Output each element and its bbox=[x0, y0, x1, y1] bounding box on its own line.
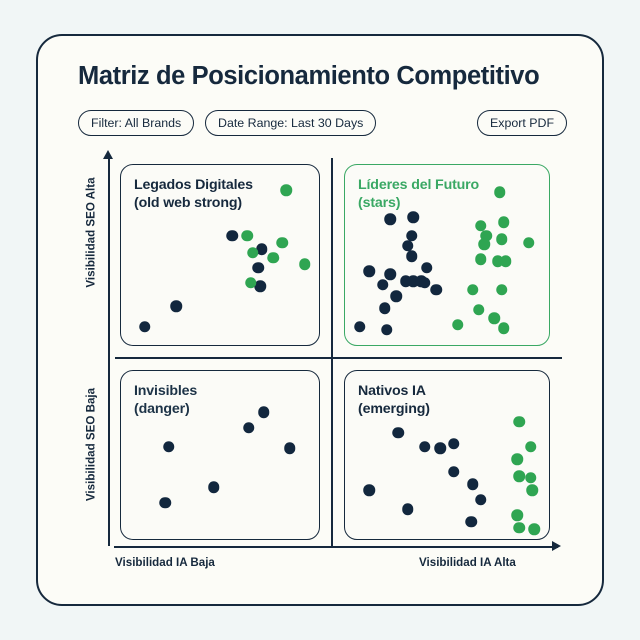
quadrant-legados-digitales[interactable]: Legados Digitales(old web strong) bbox=[120, 164, 320, 346]
data-point bbox=[159, 497, 171, 509]
data-point bbox=[498, 322, 510, 334]
data-point bbox=[529, 524, 541, 536]
data-point bbox=[431, 284, 443, 296]
data-point bbox=[527, 485, 539, 497]
data-point bbox=[364, 485, 376, 497]
data-point bbox=[245, 277, 257, 289]
data-point bbox=[494, 186, 506, 198]
data-point bbox=[448, 466, 460, 478]
date-range-pill[interactable]: Date Range: Last 30 Days bbox=[205, 110, 376, 136]
quadrant-subtitle: (stars) bbox=[358, 195, 400, 211]
quadrant-title: Líderes del Futuro bbox=[358, 177, 479, 193]
data-point bbox=[252, 262, 264, 274]
data-point bbox=[473, 304, 485, 316]
quadrant-invisibles[interactable]: Invisibles(danger) bbox=[120, 370, 320, 540]
data-point bbox=[381, 324, 393, 336]
data-point bbox=[385, 269, 397, 281]
data-point bbox=[402, 503, 414, 515]
data-point bbox=[475, 494, 487, 506]
quadrant-label: Nativos IA(emerging) bbox=[358, 382, 430, 418]
data-point bbox=[163, 441, 175, 453]
data-point bbox=[500, 255, 512, 267]
data-point bbox=[385, 213, 397, 225]
quadrant-label: Legados Digitales(old web strong) bbox=[134, 176, 253, 212]
data-point bbox=[421, 262, 433, 274]
data-point bbox=[258, 407, 270, 419]
data-point bbox=[465, 516, 477, 528]
y-axis-label-high: Visibilidad SEO Alta bbox=[85, 168, 98, 298]
data-point bbox=[523, 237, 535, 249]
data-point bbox=[139, 321, 151, 333]
data-point bbox=[488, 312, 500, 324]
export-pdf-button[interactable]: Export PDF bbox=[477, 110, 567, 136]
quadrant-lideres-del-futuro[interactable]: Líderes del Futuro(stars) bbox=[344, 164, 550, 346]
data-point bbox=[498, 217, 510, 229]
data-point bbox=[419, 441, 431, 453]
data-point bbox=[479, 238, 491, 250]
data-point bbox=[284, 442, 296, 454]
data-point bbox=[448, 438, 460, 450]
x-axis-label-high: Visibilidad IA Alta bbox=[419, 556, 516, 569]
data-point bbox=[496, 284, 508, 296]
quadrant-divider-vertical bbox=[331, 158, 333, 546]
quadrant-label: Líderes del Futuro(stars) bbox=[358, 176, 479, 212]
quadrant-divider-horizontal bbox=[115, 357, 562, 359]
x-axis-arrow-icon bbox=[552, 541, 561, 551]
data-point bbox=[467, 284, 479, 296]
data-point bbox=[392, 427, 404, 439]
dashboard-card: Matriz de Posicionamiento Competitivo Fi… bbox=[36, 34, 604, 606]
competitive-matrix-chart: Visibilidad SEO Alta Visibilidad SEO Baj… bbox=[82, 148, 564, 578]
data-point bbox=[364, 265, 376, 277]
data-point bbox=[525, 472, 537, 484]
data-point bbox=[406, 250, 418, 262]
data-point bbox=[280, 185, 292, 197]
data-point bbox=[475, 254, 487, 266]
y-axis-line bbox=[108, 158, 110, 546]
data-point bbox=[377, 279, 389, 291]
data-point bbox=[226, 230, 238, 242]
quadrant-title: Legados Digitales bbox=[134, 177, 253, 193]
quadrant-label: Invisibles(danger) bbox=[134, 382, 197, 418]
y-axis-arrow-icon bbox=[103, 150, 113, 159]
y-axis-label-low: Visibilidad SEO Baja bbox=[85, 380, 98, 510]
quadrant-subtitle: (emerging) bbox=[358, 401, 430, 417]
data-point bbox=[354, 321, 366, 333]
data-point bbox=[299, 259, 311, 271]
data-point bbox=[171, 301, 183, 313]
data-point bbox=[247, 247, 259, 259]
data-point bbox=[243, 422, 255, 434]
data-point bbox=[513, 416, 525, 428]
data-point bbox=[379, 302, 391, 314]
data-point bbox=[277, 237, 289, 249]
quadrant-title: Nativos IA bbox=[358, 383, 426, 399]
quadrant-subtitle: (old web strong) bbox=[134, 195, 242, 211]
data-point bbox=[496, 233, 508, 245]
data-point bbox=[525, 441, 537, 453]
data-point bbox=[208, 481, 220, 493]
quadrant-nativos-ia[interactable]: Nativos IA(emerging) bbox=[344, 370, 550, 540]
data-point bbox=[241, 230, 253, 242]
quadrant-subtitle: (danger) bbox=[134, 401, 190, 417]
filter-pill[interactable]: Filter: All Brands bbox=[78, 110, 194, 136]
data-point bbox=[452, 319, 464, 331]
x-axis-line bbox=[114, 546, 558, 548]
data-point bbox=[513, 522, 525, 534]
x-axis-label-low: Visibilidad IA Baja bbox=[115, 556, 215, 569]
page-title: Matriz de Posicionamiento Competitivo bbox=[78, 62, 539, 91]
data-point bbox=[467, 478, 479, 490]
data-point bbox=[408, 212, 420, 224]
quadrant-title: Invisibles bbox=[134, 383, 197, 399]
data-point bbox=[435, 442, 447, 454]
data-point bbox=[513, 471, 525, 483]
data-point bbox=[267, 252, 279, 264]
data-point bbox=[419, 277, 431, 289]
data-point bbox=[511, 453, 523, 465]
data-point bbox=[390, 291, 402, 303]
data-point bbox=[511, 510, 523, 522]
